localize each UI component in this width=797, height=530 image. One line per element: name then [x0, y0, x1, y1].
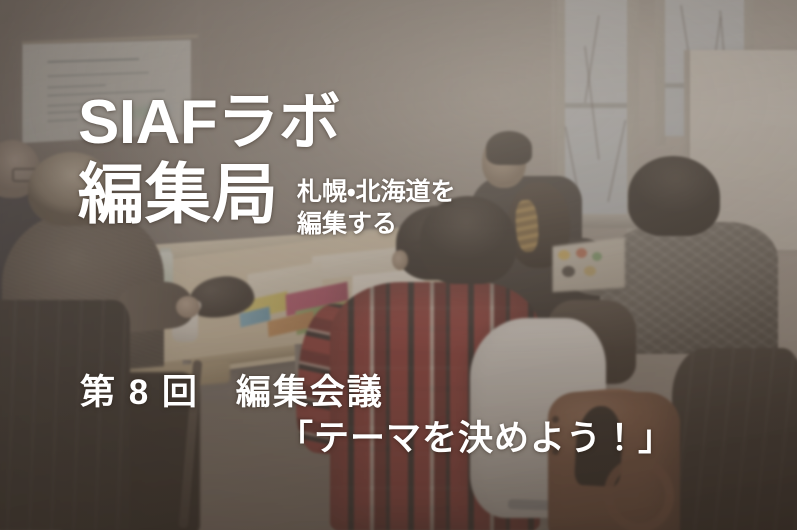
- title-sub: 編集局: [78, 161, 279, 227]
- theme-title: 「テーマを決めよう！」: [278, 421, 674, 456]
- session-title: 第 8 回 編集会議: [80, 375, 384, 410]
- poster-root: SIAFラボ 編集局 札幌・北海道を 編集する 第 8 回 編集会議 「テーマを…: [0, 0, 797, 530]
- title-main: SIAFラボ: [78, 92, 340, 154]
- text-layer: SIAFラボ 編集局 札幌・北海道を 編集する 第 8 回 編集会議 「テーマを…: [0, 0, 797, 530]
- tagline: 札幌・北海道を 編集する: [297, 176, 456, 240]
